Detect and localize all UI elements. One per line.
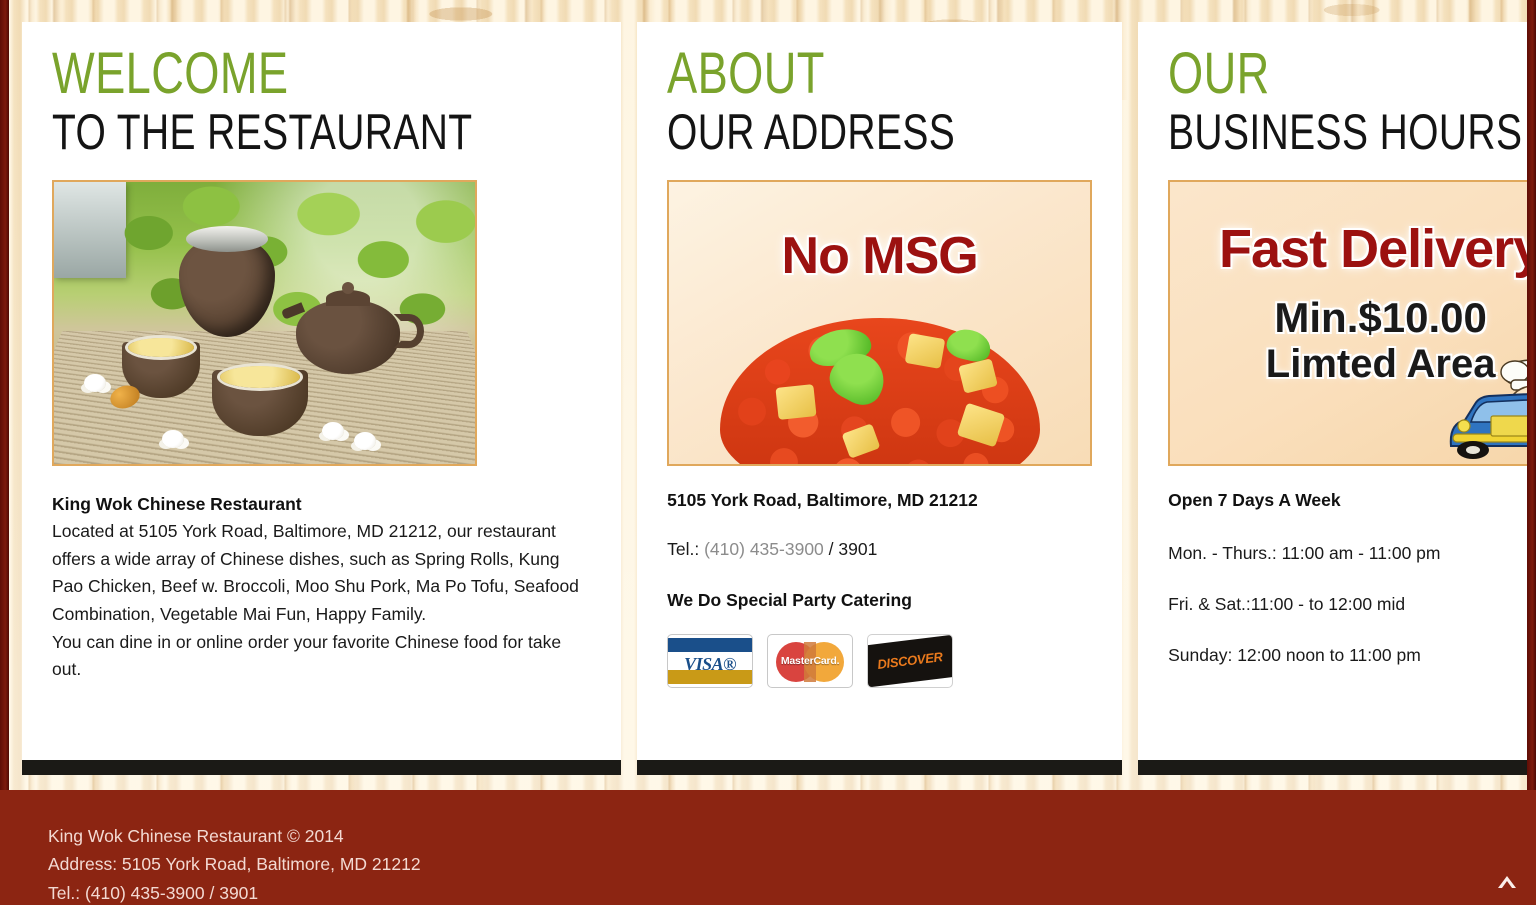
photo-tea-jar-lid bbox=[186, 226, 268, 252]
catering-label: We Do Special Party Catering bbox=[667, 590, 1092, 611]
footer-address: Address: 5105 York Road, Baltimore, MD 2… bbox=[48, 850, 1536, 878]
telephone-label: Tel.: bbox=[667, 539, 699, 559]
panel-business-hours: OUR BUSINESS HOURS Fast Delivery Min.$10… bbox=[1138, 22, 1536, 775]
panel-address-heading-top: ABOUT bbox=[667, 44, 999, 103]
panel-bottom-bar bbox=[1138, 760, 1536, 775]
footer-telephone: Tel.: (410) 435-3900 / 3901 bbox=[48, 879, 1536, 905]
chevron-up-icon[interactable] bbox=[1492, 867, 1522, 897]
mastercard-wordmark: MasterCard. bbox=[768, 655, 852, 667]
no-msg-promo-title: No MSG bbox=[669, 226, 1090, 286]
visa-top-band bbox=[668, 638, 752, 652]
left-edge-rail bbox=[0, 0, 9, 790]
street-address-label: 5105 York Road, Baltimore, MD 21212 bbox=[667, 490, 1092, 511]
promo-pineapple-chunk bbox=[905, 333, 946, 369]
hours-row-sunday: Sunday: 12:00 noon to 11:00 pm bbox=[1168, 645, 1536, 666]
mastercard-card-icon: MasterCard. bbox=[767, 634, 853, 688]
fast-delivery-promo-image: Fast Delivery Min.$10.00 Limted Area bbox=[1168, 180, 1536, 466]
delivery-chef-car-icon bbox=[1437, 352, 1536, 460]
panel-hours-heading-bottom: BUSINESS HOURS bbox=[1168, 107, 1522, 158]
discover-card-icon: DISCOVER bbox=[867, 634, 953, 688]
accepted-payment-methods: VISA® MasterCard. DISCOVER bbox=[667, 634, 1092, 688]
hours-row-weekday: Mon. - Thurs.: 11:00 am - 11:00 pm bbox=[1168, 543, 1536, 564]
page-background: WELCOME TO THE RESTAURANT bbox=[0, 0, 1536, 905]
no-msg-promo-image: No MSG bbox=[667, 180, 1092, 466]
panel-hours-heading-top: OUR bbox=[1168, 44, 1522, 103]
panel-bottom-bar bbox=[637, 760, 1122, 775]
restaurant-description-paragraph: Located at 5105 York Road, Baltimore, MD… bbox=[52, 518, 591, 629]
panel-welcome-heading-bottom: TO THE RESTAURANT bbox=[52, 107, 473, 158]
restaurant-ordering-paragraph: You can dine in or online order your fav… bbox=[52, 629, 591, 684]
content-panels: WELCOME TO THE RESTAURANT bbox=[22, 22, 1514, 775]
panel-welcome-heading-top: WELCOME bbox=[52, 44, 473, 103]
right-edge-rail bbox=[1527, 0, 1536, 790]
site-footer: King Wok Chinese Restaurant © 2014 Addre… bbox=[0, 790, 1536, 905]
panel-address-heading-bottom: OUR ADDRESS bbox=[667, 107, 999, 158]
panel-bottom-bar bbox=[22, 760, 621, 775]
telephone-primary-link[interactable]: (410) 435-3900 bbox=[704, 539, 824, 559]
restaurant-name-label: King Wok Chinese Restaurant bbox=[52, 490, 591, 518]
open-days-label: Open 7 Days A Week bbox=[1168, 490, 1536, 511]
telephone-secondary: / 3901 bbox=[829, 539, 878, 559]
photo-tea-liquid-front bbox=[220, 366, 300, 388]
hours-row-weekend: Fri. & Sat.:11:00 - to 12:00 mid bbox=[1168, 594, 1536, 615]
fast-delivery-minimum-label: Min.$10.00 bbox=[1170, 294, 1536, 342]
photo-teapot-handle bbox=[394, 314, 424, 348]
chinese-tea-set-photo bbox=[52, 180, 477, 466]
fast-delivery-promo-title: Fast Delivery bbox=[1170, 218, 1536, 280]
panel-address: ABOUT OUR ADDRESS No MSG 5105 York Road,… bbox=[637, 22, 1122, 775]
telephone-row: Tel.: (410) 435-3900 / 3901 bbox=[667, 539, 1092, 560]
footer-copyright: King Wok Chinese Restaurant © 2014 bbox=[48, 822, 1536, 850]
visa-wordmark: VISA® bbox=[668, 654, 752, 675]
visa-card-icon: VISA® bbox=[667, 634, 753, 688]
panel-welcome: WELCOME TO THE RESTAURANT bbox=[22, 22, 621, 775]
promo-pineapple-chunk bbox=[776, 384, 817, 420]
